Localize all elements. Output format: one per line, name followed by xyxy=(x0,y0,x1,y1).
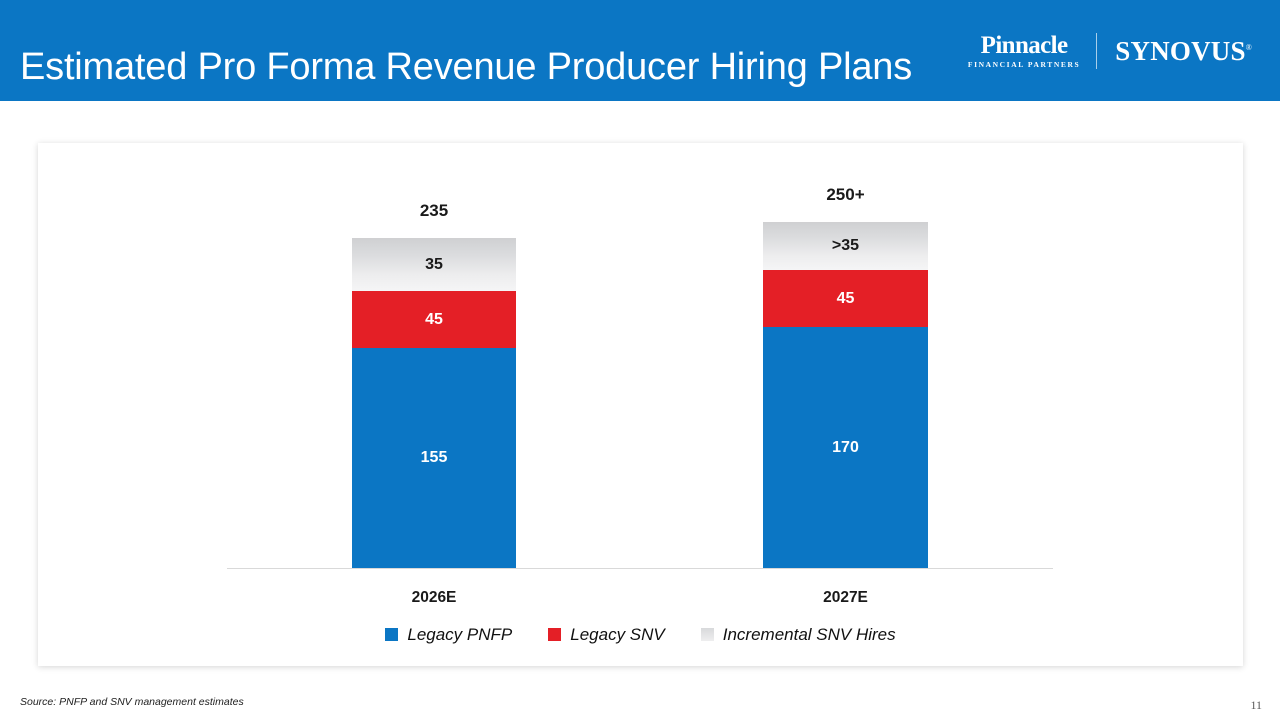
x-axis-category-label-2027e: 2027E xyxy=(763,590,928,606)
legend-item-legacy-pnfp[interactable]: Legacy PNFP xyxy=(385,626,512,643)
page-title: Estimated Pro Forma Revenue Producer Hir… xyxy=(20,48,912,86)
bar-total-label-2027e: 250+ xyxy=(763,186,928,203)
synovus-logo-wordmark: SYNOVUS® xyxy=(1097,38,1252,65)
bar-segment-legacy-snv-2026e[interactable]: 45 xyxy=(352,291,516,348)
bar-segment-legacy-snv-2027e[interactable]: 45 xyxy=(763,270,928,327)
slide-header-band: Estimated Pro Forma Revenue Producer Hir… xyxy=(0,0,1280,101)
bar-segment-label: 170 xyxy=(832,440,859,456)
bar-segment-label: >35 xyxy=(832,238,859,254)
legend-item-incremental-snv-hires[interactable]: Incremental SNV Hires xyxy=(701,626,896,643)
bar-segment-label: 155 xyxy=(421,450,448,466)
brand-logo-lockup: Pinnacle FINANCIAL PARTNERS SYNOVUS® xyxy=(968,30,1252,72)
registered-trademark-icon: ® xyxy=(1246,43,1252,52)
chart-plot-area: 235 35 45 155 250+ >35 45 170 2 xyxy=(38,143,1243,666)
stacked-bar-2027e[interactable]: 250+ >35 45 170 xyxy=(763,222,928,568)
bar-segment-legacy-pnfp-2026e[interactable]: 155 xyxy=(352,348,516,568)
bar-segment-label: 45 xyxy=(425,312,443,328)
legend-label: Incremental SNV Hires xyxy=(723,626,896,643)
bar-segment-label: 45 xyxy=(837,291,855,307)
legend-label: Legacy SNV xyxy=(570,626,665,643)
bar-total-label-2026e: 235 xyxy=(352,202,516,219)
legend-label: Legacy PNFP xyxy=(407,626,512,643)
bar-segment-legacy-pnfp-2027e[interactable]: 170 xyxy=(763,327,928,568)
stacked-bar-2026e[interactable]: 235 35 45 155 xyxy=(352,238,516,568)
bar-segment-label: 35 xyxy=(425,257,443,273)
bar-segment-incremental-snv-hires-2026e[interactable]: 35 xyxy=(352,238,516,291)
pinnacle-logo: Pinnacle FINANCIAL PARTNERS xyxy=(968,33,1096,69)
x-axis-line xyxy=(227,568,1053,569)
chart-legend: Legacy PNFP Legacy SNV Incremental SNV H… xyxy=(38,626,1243,643)
legend-swatch-icon xyxy=(548,628,561,641)
legend-item-legacy-snv[interactable]: Legacy SNV xyxy=(548,626,665,643)
page-number: 11 xyxy=(1250,699,1262,711)
legend-swatch-icon xyxy=(385,628,398,641)
bar-segment-incremental-snv-hires-2027e[interactable]: >35 xyxy=(763,222,928,270)
legend-swatch-icon xyxy=(701,628,714,641)
x-axis-category-label-2026e: 2026E xyxy=(352,590,516,606)
chart-card: 235 35 45 155 250+ >35 45 170 2 xyxy=(38,143,1243,666)
pinnacle-logo-tagline: FINANCIAL PARTNERS xyxy=(968,61,1080,69)
pinnacle-logo-wordmark: Pinnacle xyxy=(981,33,1068,58)
synovus-logo-text: SYNOVUS xyxy=(1115,36,1245,66)
source-note: Source: PNFP and SNV management estimate… xyxy=(20,697,244,708)
